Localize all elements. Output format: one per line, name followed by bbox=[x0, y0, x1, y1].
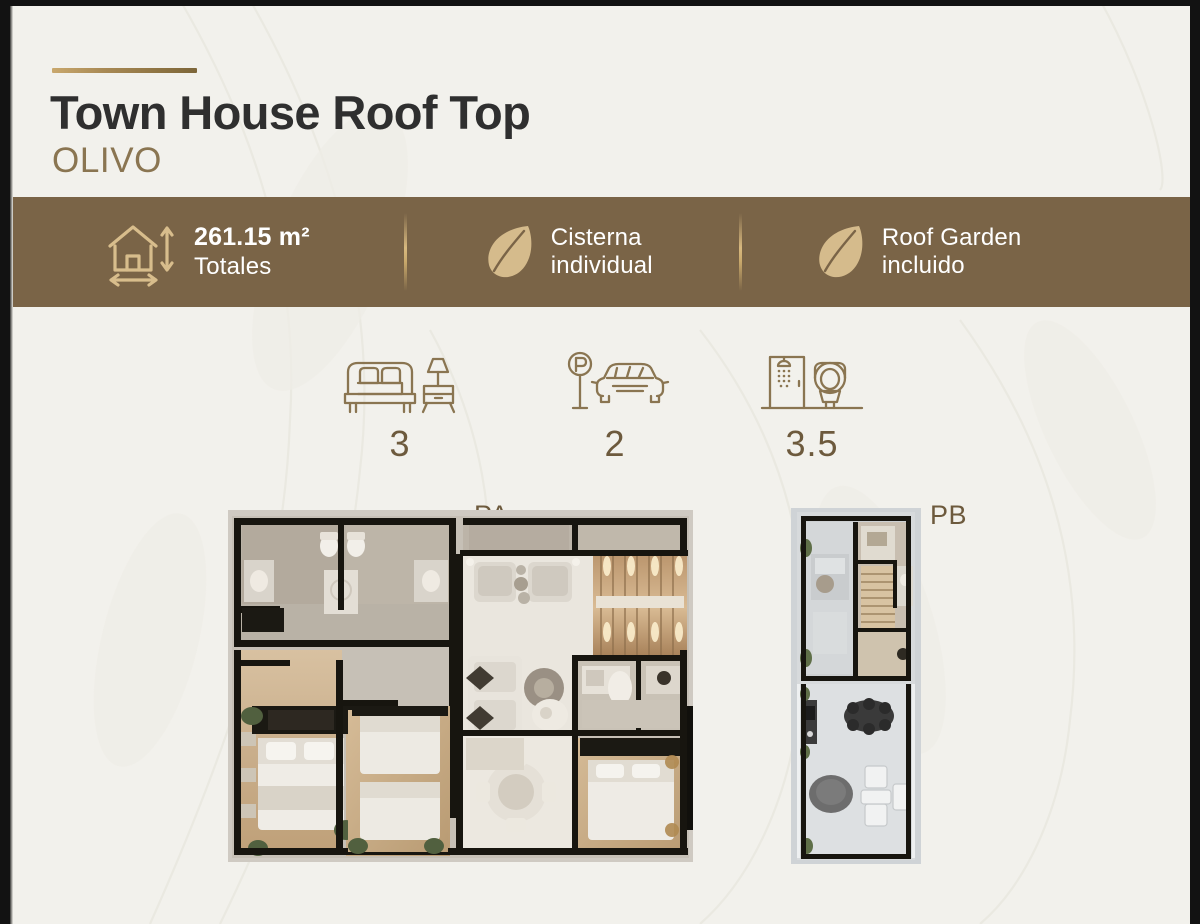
feature-total-area-label: Totales bbox=[194, 253, 310, 281]
feature-total-area-value: 261.15 m² bbox=[194, 223, 310, 252]
floor-plan-pa bbox=[228, 510, 693, 862]
frame-edge-left bbox=[0, 0, 10, 924]
amenity-parking: 2 bbox=[545, 348, 685, 462]
feature-roof-garden-text: Roof Garden incluido bbox=[882, 224, 1022, 280]
bedroom-count: 3 bbox=[330, 426, 470, 462]
house-dimensions-icon bbox=[100, 216, 178, 288]
leaf-icon bbox=[814, 221, 866, 283]
feature-divider-2 bbox=[739, 213, 742, 291]
bed-nightstand-icon bbox=[340, 350, 460, 420]
amenities-row: 3 bbox=[0, 340, 1200, 470]
leaf-icon bbox=[483, 221, 535, 283]
parking-glyph bbox=[545, 348, 685, 420]
page-header: Town House Roof Top OLIVO bbox=[0, 6, 1200, 192]
feature-cistern: Cisterna individual bbox=[483, 197, 653, 307]
brochure-sheet: Town House Roof Top OLIVO 261 bbox=[0, 0, 1200, 924]
parking-car-icon bbox=[555, 350, 675, 420]
page-title: Town House Roof Top bbox=[50, 86, 530, 140]
feature-cistern-line2: individual bbox=[551, 252, 653, 280]
bedroom-glyph bbox=[330, 348, 470, 420]
floor-plan-label-pb: PB bbox=[930, 500, 967, 531]
parking-count: 2 bbox=[545, 426, 685, 462]
page-subtitle: OLIVO bbox=[52, 142, 162, 181]
frame-edge-top bbox=[0, 0, 1200, 6]
feature-roof-garden: Roof Garden incluido bbox=[814, 197, 1022, 307]
frame-edge-right bbox=[1190, 0, 1200, 924]
feature-total-area-text: 261.15 m² Totales bbox=[194, 223, 310, 280]
feature-bar: 261.15 m² Totales Cisterna individual bbox=[0, 197, 1200, 307]
feature-divider-1 bbox=[404, 213, 407, 291]
amenity-bathrooms: 3.5 bbox=[742, 348, 882, 462]
floor-plan-pb bbox=[791, 508, 921, 864]
amenity-bedrooms: 3 bbox=[330, 348, 470, 462]
gold-accent-rule bbox=[52, 68, 197, 73]
bathroom-glyph bbox=[742, 348, 882, 420]
frame-edge-inner bbox=[10, 6, 13, 924]
bathroom-count: 3.5 bbox=[742, 426, 882, 462]
feature-roof-garden-line2: incluido bbox=[882, 252, 1022, 280]
feature-cistern-text: Cisterna individual bbox=[551, 224, 653, 280]
feature-roof-garden-line1: Roof Garden bbox=[882, 224, 1022, 252]
feature-cistern-line1: Cisterna bbox=[551, 224, 653, 252]
shower-toilet-icon bbox=[752, 350, 872, 420]
feature-total-area: 261.15 m² Totales bbox=[100, 197, 310, 307]
